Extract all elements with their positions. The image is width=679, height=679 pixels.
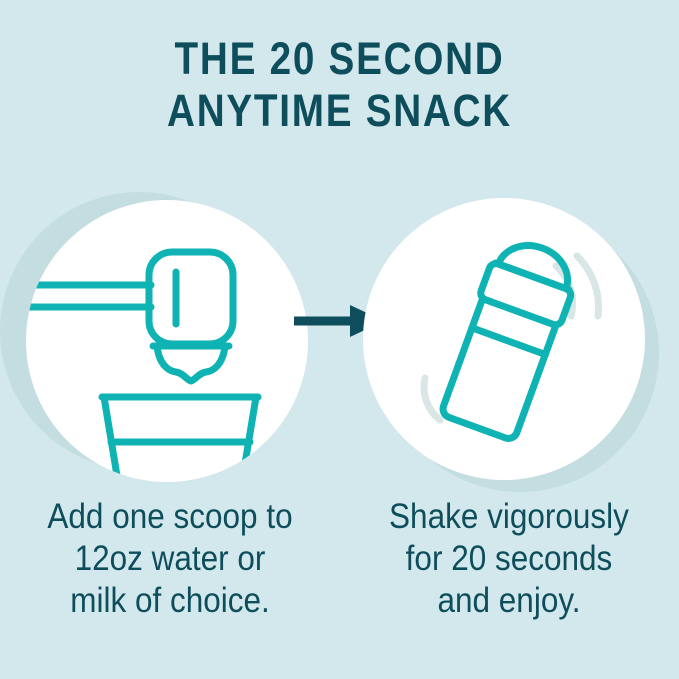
icon-circle-left: [26, 200, 308, 482]
caption-line: Add one scoop to: [17, 496, 323, 538]
step-1-panel: [18, 196, 318, 486]
bottle-group: [437, 233, 583, 442]
caption-line: for 20 seconds: [356, 538, 662, 580]
scoop-and-cup-icon: [26, 200, 308, 482]
caption-line: milk of choice.: [17, 580, 323, 622]
caption-line: 12oz water or: [17, 538, 323, 580]
infographic-root: THE 20 SECOND ANYTIME SNACK: [0, 0, 679, 679]
title-line-2: ANYTIME SNACK: [48, 88, 632, 133]
title-line-1: THE 20 SECOND: [48, 36, 632, 81]
caption-line: Shake vigorously: [356, 496, 662, 538]
motion-arcs-lower: [424, 378, 440, 420]
step-2-caption: Shake vigorously for 20 seconds and enjo…: [339, 496, 679, 622]
step-2-panel: [361, 196, 661, 486]
shaker-bottle-icon: [363, 198, 645, 480]
icon-circle-right: [363, 198, 645, 480]
step-1-caption: Add one scoop to 12oz water or milk of c…: [0, 496, 340, 622]
page-title: THE 20 SECOND ANYTIME SNACK: [0, 36, 679, 140]
caption-line: and enjoy.: [356, 580, 662, 622]
